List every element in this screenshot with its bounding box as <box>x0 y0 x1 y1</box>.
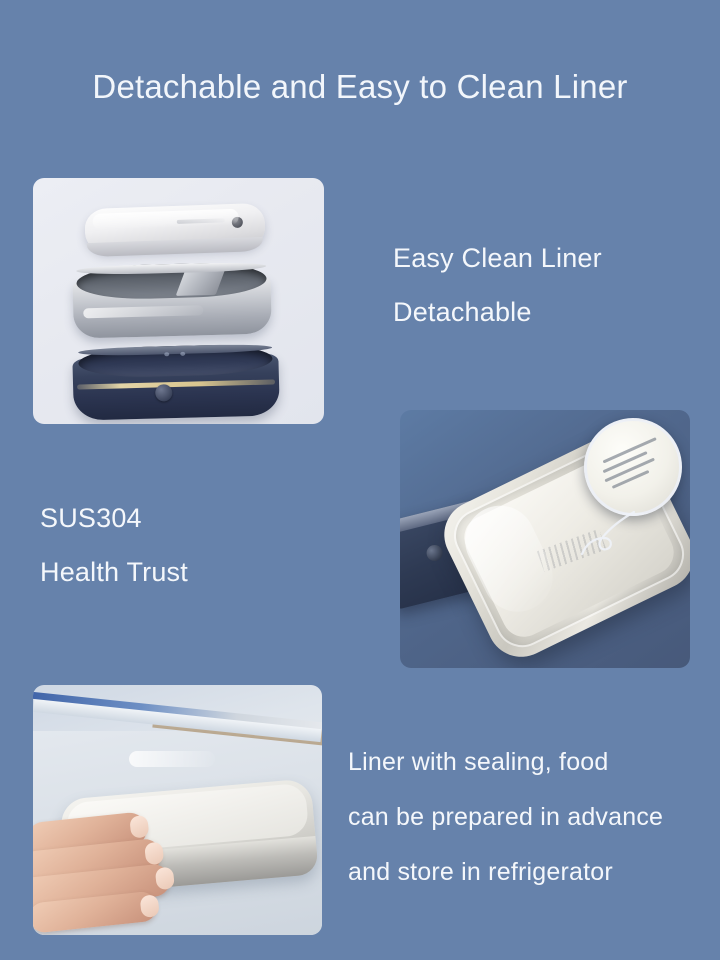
callout-pointer-line <box>580 510 638 556</box>
feature-line: Liner with sealing, food <box>348 748 663 777</box>
lunchbox-outer-body <box>72 343 280 420</box>
product-photo-liner-removal <box>400 410 690 668</box>
feature-line: Health Trust <box>40 557 188 588</box>
product-feature-page: Detachable and Easy to Clean Liner <box>0 0 720 960</box>
feature-text-easy-clean: Easy Clean Liner Detachable <box>393 243 602 328</box>
page-title: Detachable and Easy to Clean Liner <box>0 68 720 106</box>
fingernail <box>144 841 164 865</box>
feature-line: Easy Clean Liner <box>393 243 602 274</box>
fingernail <box>155 867 175 891</box>
hand-holding-liner <box>33 804 209 935</box>
feature-line: SUS304 <box>40 503 188 534</box>
lid-vent-valve-icon <box>232 217 243 228</box>
product-photo-exploded-view <box>33 178 324 424</box>
body-knob <box>425 543 444 562</box>
fingernail <box>129 815 149 839</box>
lid-groove <box>177 218 225 224</box>
liner-band-highlight <box>129 751 215 767</box>
outer-body-vent-holes <box>164 351 198 357</box>
feature-line: Detachable <box>393 297 602 328</box>
stainless-steel-liner-tray <box>72 261 272 338</box>
feature-text-storage: Liner with sealing, food can be prepared… <box>348 748 663 887</box>
engraving-text-lines <box>597 435 679 504</box>
fingernail <box>140 894 160 918</box>
product-photo-refrigerator-storage <box>33 685 322 935</box>
feature-line: and store in refrigerator <box>348 858 663 887</box>
magnifier-callout-bubble <box>584 418 682 516</box>
feature-line: can be prepared in advance <box>348 803 663 832</box>
feature-text-material: SUS304 Health Trust <box>40 503 188 588</box>
